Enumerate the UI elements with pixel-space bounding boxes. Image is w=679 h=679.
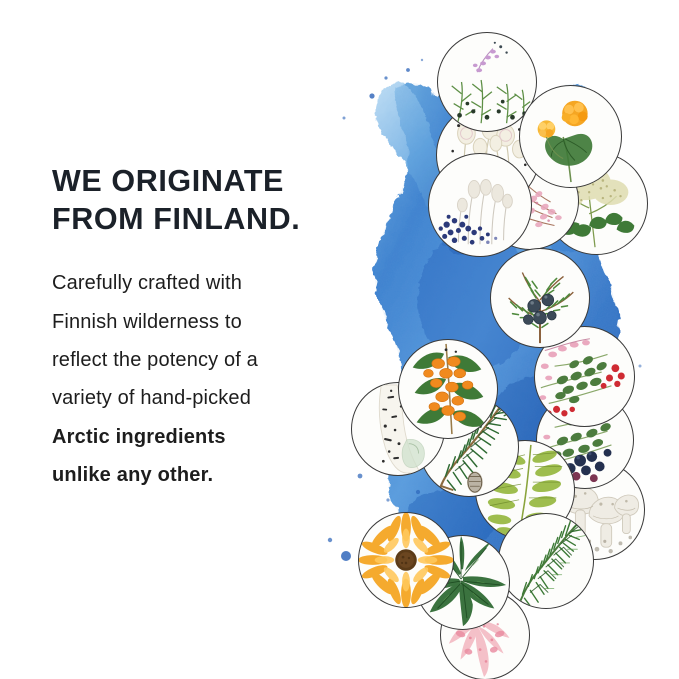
circle-cloudberry [519, 85, 622, 188]
finland-map [300, 0, 679, 679]
circle-bilberry-sprigs [428, 153, 532, 257]
circle-juniper-berries [490, 248, 590, 348]
circle-calendula-flower [358, 512, 454, 608]
circle-sea-buckthorn [398, 339, 498, 439]
poster-root: WE ORIGINATE FROM FINLAND. Carefully cra… [0, 0, 679, 679]
circle-spruce-sprig [498, 513, 594, 609]
